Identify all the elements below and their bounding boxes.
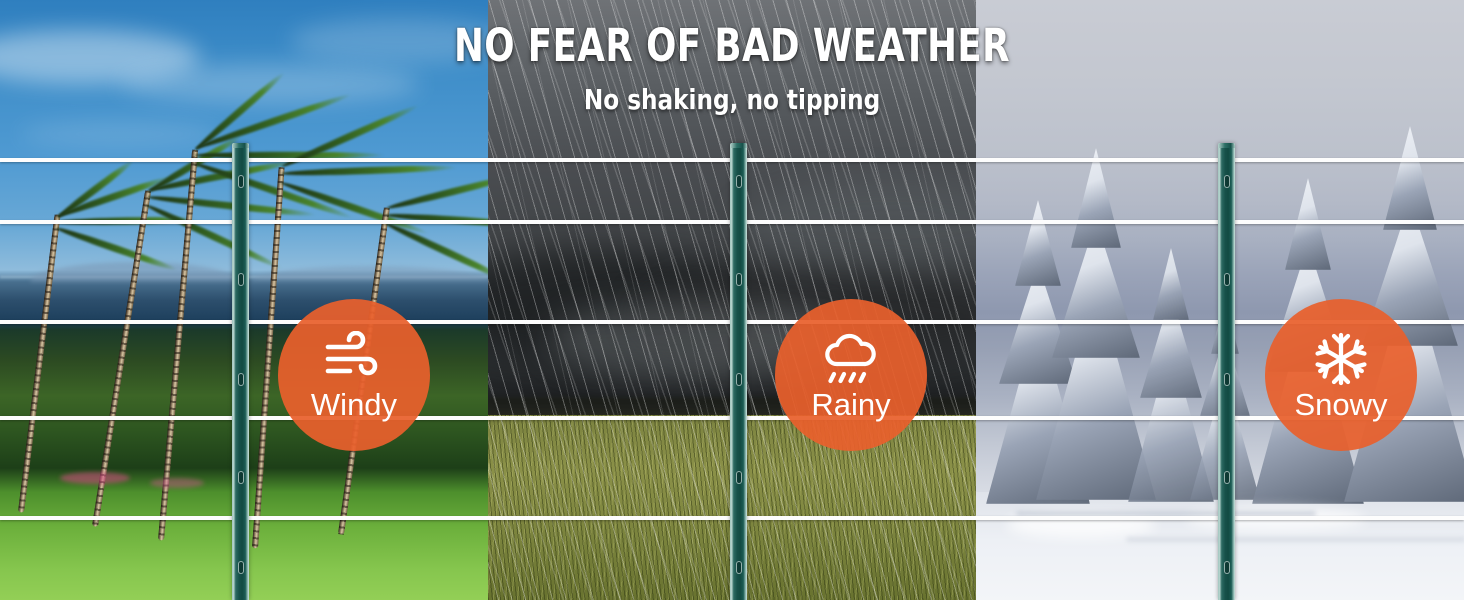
post-hole	[736, 561, 742, 574]
post-hole	[736, 373, 742, 386]
snow-track	[1126, 537, 1464, 542]
rain-cloud-icon	[819, 331, 883, 387]
post-hole	[1224, 373, 1230, 386]
weather-feature-banner: NO FEAR OF BAD WEATHER No shaking, no ti…	[0, 0, 1464, 600]
post-hole	[736, 273, 742, 286]
post-hole	[238, 373, 244, 386]
post-hole	[238, 561, 244, 574]
wind-icon	[322, 331, 386, 387]
post-body	[1218, 143, 1235, 600]
post-body	[730, 143, 747, 600]
fence-t-post	[730, 143, 747, 600]
post-hole	[1224, 273, 1230, 286]
badge-label-rainy: Rainy	[811, 389, 890, 420]
post-body	[232, 143, 249, 600]
post-hole	[736, 471, 742, 484]
flower-patch	[150, 478, 204, 488]
post-hole	[1224, 561, 1230, 574]
weather-badge-snowy[interactable]: Snowy	[1265, 299, 1417, 451]
post-hole	[238, 273, 244, 286]
flower-patch	[60, 472, 130, 484]
fence-t-post	[232, 143, 249, 600]
weather-badge-windy[interactable]: Windy	[278, 299, 430, 451]
post-hole	[1224, 175, 1230, 188]
badge-label-snowy: Snowy	[1294, 389, 1387, 420]
post-hole	[238, 175, 244, 188]
fence-t-post	[1218, 143, 1235, 600]
palm-frond	[195, 152, 385, 159]
post-hole	[238, 471, 244, 484]
snowflake-icon	[1309, 331, 1373, 387]
badge-label-windy: Windy	[311, 389, 397, 420]
weather-badge-rainy[interactable]: Rainy	[775, 299, 927, 451]
post-cap	[1218, 143, 1235, 148]
snow-track	[1016, 511, 1316, 516]
post-cap	[730, 143, 747, 148]
cloud-shape	[20, 120, 220, 148]
post-cap	[232, 143, 249, 148]
post-hole	[736, 175, 742, 188]
post-hole	[1224, 471, 1230, 484]
